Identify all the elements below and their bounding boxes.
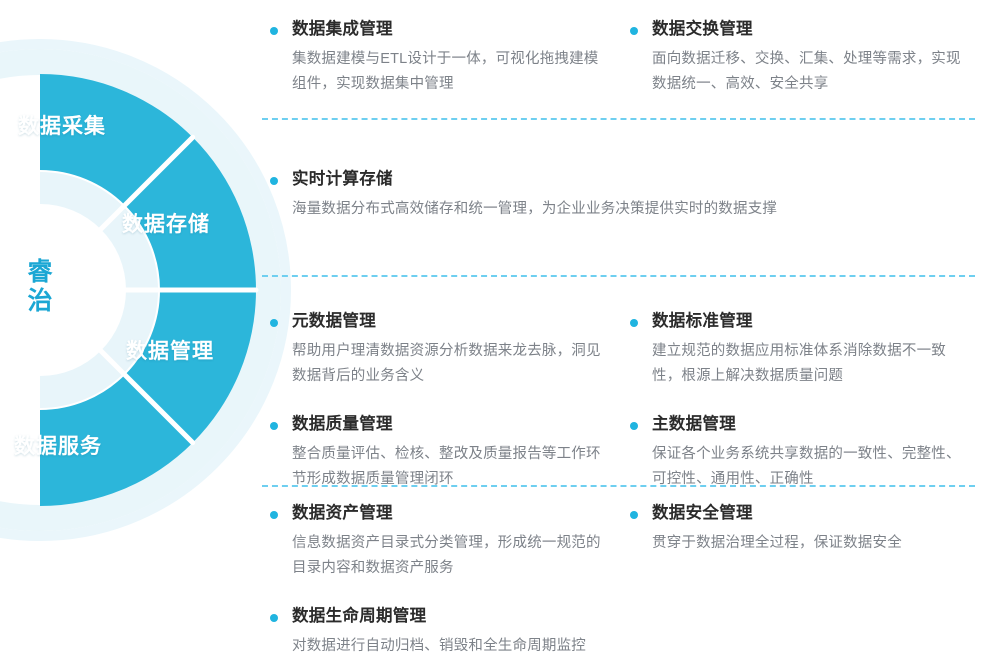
feature-title: 数据标准管理	[652, 310, 975, 334]
feature-title: 数据生命周期管理	[292, 605, 610, 629]
infographic-root: 数据采集 数据存储 数据管理 数据服务 睿 治 数据集成管理 集数据建模与ETL…	[0, 0, 986, 669]
feature-item[interactable]: 数据资产管理 信息数据资产目录式分类管理，形成统一规范的目录内容和数据资产服务	[270, 502, 610, 581]
feature-description: 建立规范的数据应用标准体系消除数据不一致性，根源上解决数据质量问题	[652, 339, 975, 389]
feature-item[interactable]: 元数据管理 帮助用户理清数据资源分析数据来龙去脉，洞见数据背后的业务含义	[270, 310, 610, 389]
sector-label-data-storage[interactable]: 数据存储	[122, 208, 210, 238]
brand-char-1: 睿	[4, 258, 76, 287]
feature-item[interactable]: 数据交换管理 面向数据迁移、交换、汇集、处理等需求，实现数据统一、高效、安全共享	[630, 18, 975, 97]
brand-center-label: 睿 治	[4, 258, 76, 316]
feature-description: 保证各个业务系统共享数据的一致性、完整性、可控性、通用性、正确性	[652, 442, 975, 492]
feature-description: 贯穿于数据治理全过程，保证数据安全	[652, 531, 975, 556]
feature-block-3-col-left: 元数据管理 帮助用户理清数据资源分析数据来龙去脉，洞见数据背后的业务含义 数据质…	[270, 310, 610, 492]
feature-item[interactable]: 数据集成管理 集数据建模与ETL设计于一体，可视化拖拽建模组件，实现数据集中管理	[270, 18, 610, 97]
feature-description: 集数据建模与ETL设计于一体，可视化拖拽建模组件，实现数据集中管理	[292, 47, 610, 97]
brand-char-2: 治	[4, 287, 76, 316]
feature-item[interactable]: 数据质量管理 整合质量评估、检核、整改及质量报告等工作环节形成数据质量管理闭环	[270, 413, 610, 492]
bullet-icon	[270, 614, 278, 622]
bullet-icon	[270, 422, 278, 430]
feature-item[interactable]: 数据标准管理 建立规范的数据应用标准体系消除数据不一致性，根源上解决数据质量问题	[630, 310, 975, 389]
feature-description: 海量数据分布式高效储存和统一管理，为企业业务决策提供实时的数据支撑	[292, 197, 975, 222]
feature-block-1-col-right: 数据交换管理 面向数据迁移、交换、汇集、处理等需求，实现数据统一、高效、安全共享	[630, 18, 975, 97]
bullet-icon	[270, 319, 278, 327]
feature-block-4-col-right: 数据安全管理 贯穿于数据治理全过程，保证数据安全	[630, 502, 975, 556]
bullet-icon	[630, 511, 638, 519]
bullet-icon	[630, 319, 638, 327]
feature-block-2-col-left: 实时计算存储 海量数据分布式高效储存和统一管理，为企业业务决策提供实时的数据支撑	[270, 168, 975, 222]
feature-title: 数据安全管理	[652, 502, 975, 526]
feature-description: 面向数据迁移、交换、汇集、处理等需求，实现数据统一、高效、安全共享	[652, 47, 975, 97]
feature-item[interactable]: 数据安全管理 贯穿于数据治理全过程，保证数据安全	[630, 502, 975, 556]
feature-description: 信息数据资产目录式分类管理，形成统一规范的目录内容和数据资产服务	[292, 531, 610, 581]
bullet-icon	[630, 422, 638, 430]
feature-item[interactable]: 主数据管理 保证各个业务系统共享数据的一致性、完整性、可控性、通用性、正确性	[630, 413, 975, 492]
feature-block-3-col-right: 数据标准管理 建立规范的数据应用标准体系消除数据不一致性，根源上解决数据质量问题…	[630, 310, 975, 492]
sector-label-data-collection[interactable]: 数据采集	[18, 110, 106, 140]
feature-title: 数据集成管理	[292, 18, 610, 42]
feature-title: 数据质量管理	[292, 413, 610, 437]
feature-description: 帮助用户理清数据资源分析数据来龙去脉，洞见数据背后的业务含义	[292, 339, 610, 389]
feature-title: 主数据管理	[652, 413, 975, 437]
feature-title: 元数据管理	[292, 310, 610, 334]
feature-block-4-col-left: 数据资产管理 信息数据资产目录式分类管理，形成统一规范的目录内容和数据资产服务 …	[270, 502, 610, 659]
feature-description: 对数据进行自动归档、销毁和全生命周期监控	[292, 634, 610, 659]
section-divider-1	[262, 118, 975, 120]
capability-wheel: 数据采集 数据存储 数据管理 数据服务 睿 治	[0, 0, 300, 669]
feature-item[interactable]: 实时计算存储 海量数据分布式高效储存和统一管理，为企业业务决策提供实时的数据支撑	[270, 168, 975, 222]
feature-description: 整合质量评估、检核、整改及质量报告等工作环节形成数据质量管理闭环	[292, 442, 610, 492]
feature-title: 实时计算存储	[292, 168, 975, 192]
bullet-icon	[270, 511, 278, 519]
feature-title: 数据交换管理	[652, 18, 975, 42]
bullet-icon	[270, 27, 278, 35]
sector-label-data-service[interactable]: 数据服务	[14, 430, 102, 460]
bullet-icon	[630, 27, 638, 35]
feature-title: 数据资产管理	[292, 502, 610, 526]
feature-block-1-col-left: 数据集成管理 集数据建模与ETL设计于一体，可视化拖拽建模组件，实现数据集中管理	[270, 18, 610, 97]
bullet-icon	[270, 177, 278, 185]
section-divider-2	[262, 275, 975, 277]
sector-label-data-management[interactable]: 数据管理	[126, 335, 214, 365]
feature-list: 数据集成管理 集数据建模与ETL设计于一体，可视化拖拽建模组件，实现数据集中管理…	[262, 0, 986, 669]
feature-item[interactable]: 数据生命周期管理 对数据进行自动归档、销毁和全生命周期监控	[270, 605, 610, 659]
